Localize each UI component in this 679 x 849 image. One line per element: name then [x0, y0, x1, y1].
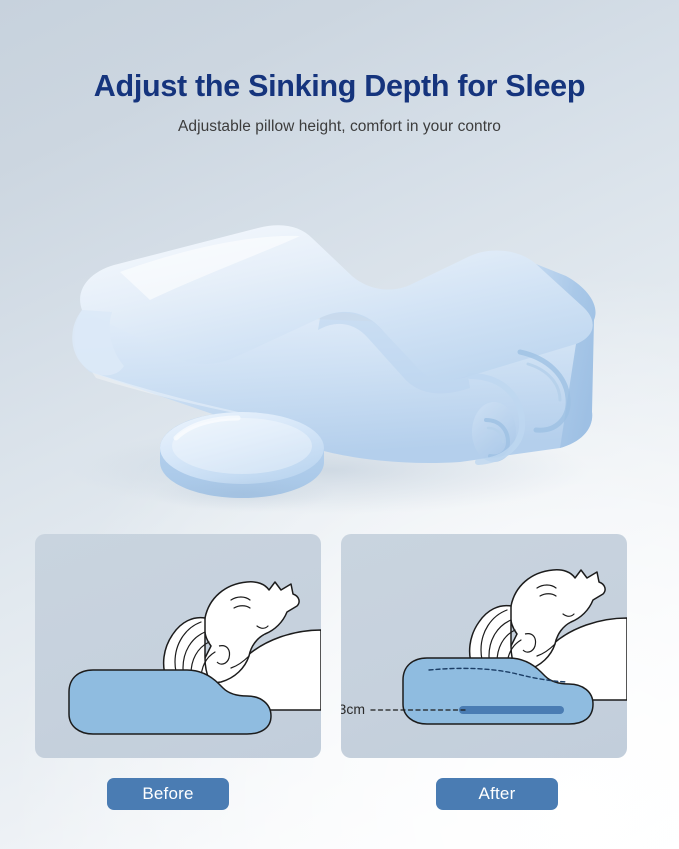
- before-label-button[interactable]: Before: [107, 778, 229, 810]
- panel-after: 3cm: [341, 534, 627, 758]
- infographic-page: Adjust the Sinking Depth for Sleep Adjus…: [0, 0, 679, 849]
- comparison-section: Before: [0, 534, 679, 824]
- page-title: Adjust the Sinking Depth for Sleep: [0, 0, 679, 103]
- hero-product-image: [0, 180, 679, 520]
- panel-before: [35, 534, 321, 758]
- insert-pad-ground-shadow: [152, 476, 336, 512]
- after-label-button[interactable]: After: [436, 778, 558, 810]
- insert-pad-bar: [459, 706, 564, 714]
- measurement-label: 3cm: [341, 701, 365, 717]
- header: Adjust the Sinking Depth for Sleep Adjus…: [0, 0, 679, 136]
- page-subtitle: Adjustable pillow height, comfort in you…: [0, 103, 679, 136]
